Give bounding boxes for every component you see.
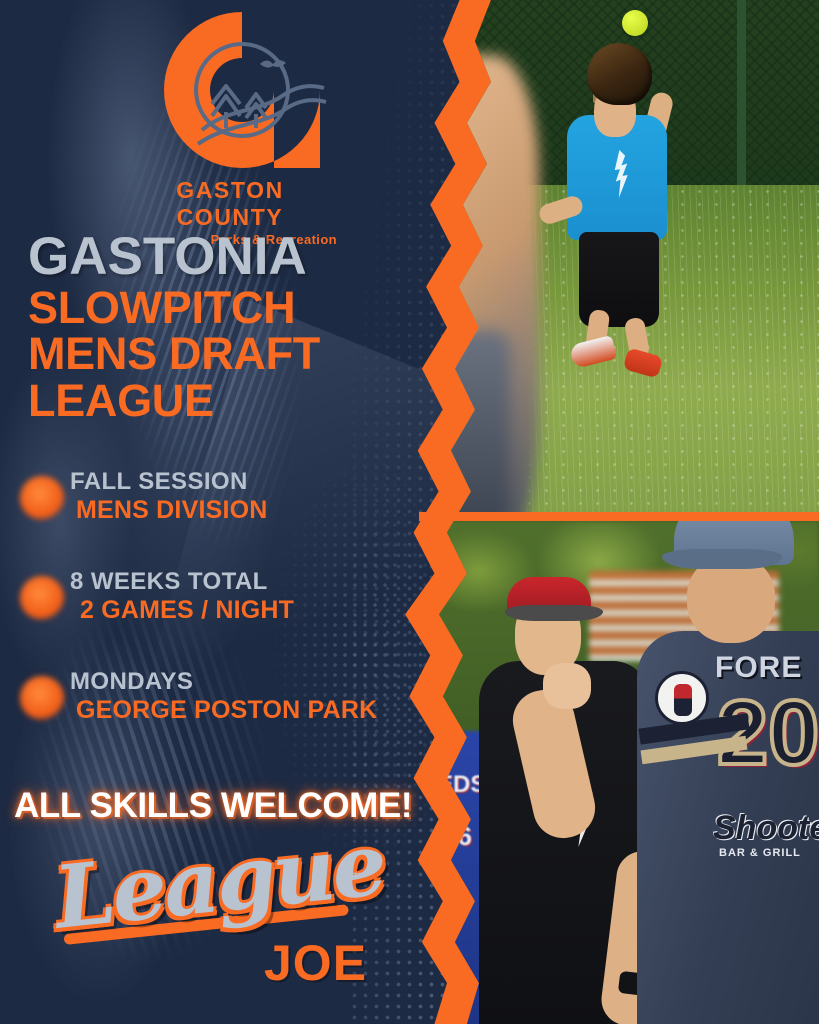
baseball-glove-icon	[587, 43, 652, 105]
jersey-shoulder-patch-icon	[655, 671, 709, 725]
headline-line-1: SLOWPITCH	[28, 285, 428, 331]
detail-label: 8 WEEKS TOTAL	[70, 568, 268, 596]
headline-line-2: MENS DRAFT	[28, 331, 428, 377]
detail-item: MONDAYS GEORGE POSTON PARK	[14, 668, 414, 738]
detail-item: 8 WEEKS TOTAL 2 GAMES / NIGHT	[14, 568, 414, 638]
detail-label: MONDAYS	[70, 668, 193, 696]
gaston-county-parks-g-logo-icon	[142, 8, 342, 173]
bullet-dot-icon	[20, 676, 64, 720]
jersey-sponsor-subtext: BAR & GRILL	[719, 847, 819, 859]
bullet-dot-icon	[20, 476, 64, 520]
brand-name: GASTON COUNTY	[120, 177, 340, 231]
jersey-name-text: FORE	[715, 651, 819, 685]
fence-post	[737, 0, 746, 205]
softball-players-dugout-photo: EDS 46 FORE 20 Shooters BAR & GRILL	[419, 521, 819, 1024]
flyer-canvas: EDS 46 FORE 20 Shooters BAR & GRILL	[0, 0, 819, 1024]
detail-item: FALL SESSION MENS DIVISION	[14, 468, 414, 538]
league-joe-logo: League JOE ™	[56, 848, 386, 1008]
detail-value: GEORGE POSTON PARK	[76, 696, 377, 725]
jersey-sponsor-text: Shooters	[713, 809, 819, 848]
photo-divider-bar	[419, 512, 819, 521]
detail-value: MENS DIVISION	[76, 496, 268, 525]
content-column: GASTON COUNTY Parks & Recreation GASTONI…	[0, 0, 440, 1024]
teammate-cap-brim	[662, 549, 782, 569]
detail-value: 2 GAMES / NIGHT	[80, 596, 294, 625]
cap-brim	[505, 605, 603, 621]
detail-label: FALL SESSION	[70, 468, 248, 496]
foreground-player-hand	[543, 663, 591, 709]
details-list: FALL SESSION MENS DIVISION 8 WEEKS TOTAL…	[14, 468, 414, 768]
trademark-symbol: ™	[352, 870, 367, 887]
joe-text: JOE	[264, 934, 367, 992]
gaston-county-logo-block: GASTON COUNTY Parks & Recreation	[120, 8, 340, 247]
bullet-dot-icon	[20, 576, 64, 620]
headline-city: GASTONIA	[28, 232, 428, 283]
headline-block: GASTONIA SLOWPITCH MENS DRAFT LEAGUE	[28, 232, 428, 424]
headline-line-3: LEAGUE	[28, 378, 428, 424]
softball-icon	[622, 10, 648, 36]
jersey-number-text: 20	[717, 687, 819, 779]
headline-main: SLOWPITCH MENS DRAFT LEAGUE	[28, 285, 428, 424]
